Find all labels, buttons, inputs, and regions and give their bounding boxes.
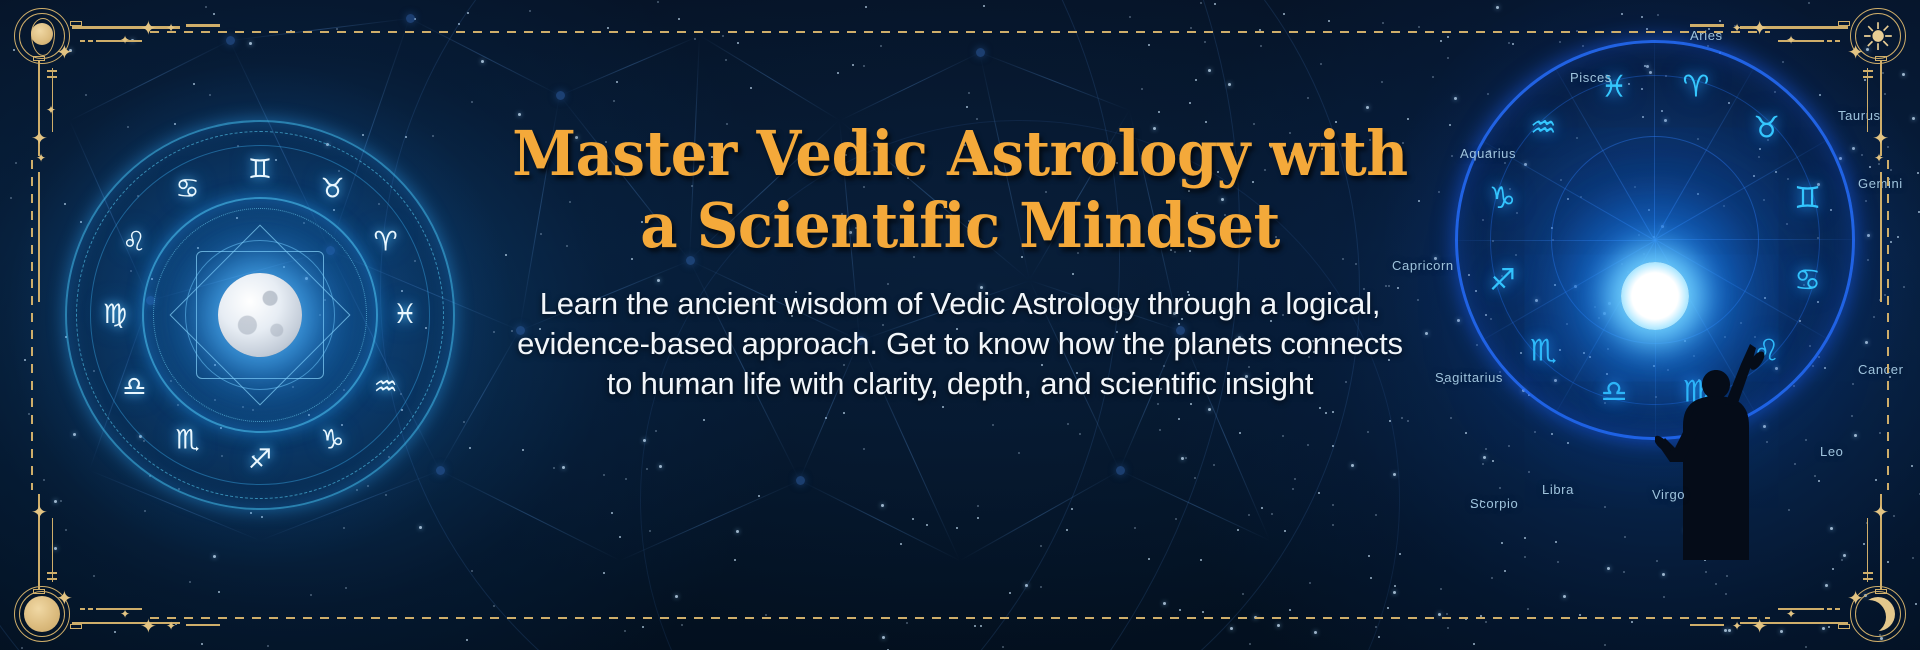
diamond-icon: ✦ — [1751, 616, 1768, 636]
frame-line — [1880, 494, 1882, 590]
frame-line — [1867, 518, 1868, 582]
constellation-label-scorpio: Scorpio — [1470, 496, 1518, 511]
constellation-label-aquarius: Aquarius — [1460, 146, 1516, 161]
frame-tick — [1863, 572, 1873, 574]
frame-line — [1740, 622, 1848, 625]
zodiac-symbol-aries: ♈ — [366, 223, 406, 263]
constellation-label-virgo: Virgo — [1652, 487, 1685, 502]
diamond-icon: ✦ — [1847, 588, 1864, 608]
sun-glyph: ☀ — [1859, 17, 1897, 55]
zodiac-symbol-sagittarius: ♐ — [240, 440, 280, 480]
zodiac-symbol-virgo: ♍ — [95, 295, 135, 335]
hero-banner: ♊♉♈♓♒♑♐♏♎♍♌♋ ♓♈♉♊♋♌♍♎♏♐♑♒ AriesPiscesTau… — [0, 0, 1920, 650]
zodiac-symbol-scorpio: ♏ — [168, 421, 208, 461]
constellation-label-cancer: Cancer — [1858, 362, 1904, 377]
zodiac-symbol-cancer: ♋ — [168, 169, 208, 209]
zodiac-symbol-aquarius: ♒ — [366, 368, 406, 408]
frame-cap — [1875, 589, 1887, 594]
zodiac-symbol-gemini: ♊ — [240, 150, 280, 190]
zodiac-symbol-sagittarius: ♐ — [1480, 259, 1524, 303]
constellation-label-libra: Libra — [1542, 482, 1574, 497]
zodiac-symbol-taurus: ♉ — [313, 169, 353, 209]
headline-line-2: a Scientific Mindset — [640, 189, 1280, 262]
constellation-label-gemini: Gemini — [1858, 176, 1903, 191]
frame-tick — [1835, 608, 1840, 610]
zodiac-wheel-moon: ♊♉♈♓♒♑♐♏♎♍♌♋ — [65, 120, 455, 510]
frame-line — [1690, 624, 1724, 627]
diamond-icon: ✦ — [1786, 608, 1796, 620]
zodiac-symbol-aquarius: ♒ — [1521, 106, 1565, 150]
zodiac-symbol-capricorn: ♑ — [1480, 177, 1524, 221]
hero-subtext: Learn the ancient wisdom of Vedic Astrol… — [470, 284, 1450, 405]
frame-cap — [1838, 624, 1850, 629]
diamond-icon: ✦ — [1732, 620, 1742, 632]
headline-line-1: Master Vedic Astrology with — [512, 117, 1407, 190]
zodiac-symbol-aries: ♈ — [1674, 65, 1718, 109]
hero-copy: Master Vedic Astrology with a Scientific… — [470, 118, 1450, 405]
zodiac-symbol-libra: ♎ — [1592, 371, 1636, 415]
zodiac-symbol-libra: ♎ — [114, 368, 154, 408]
constellation-label-pisces: Pisces — [1570, 70, 1612, 85]
frame-cap — [1875, 56, 1887, 61]
sun-icon — [1621, 262, 1689, 330]
zodiac-symbol-capricorn: ♑ — [313, 421, 353, 461]
zodiac-symbol-taurus: ♉ — [1745, 106, 1789, 150]
zodiac-symbol-cancer: ♋ — [1786, 259, 1830, 303]
zodiac-symbol-gemini: ♊ — [1786, 177, 1830, 221]
zodiac-symbol-leo: ♌ — [114, 223, 154, 263]
sun-medallion-icon: ☀ — [1850, 8, 1906, 64]
frame-line — [1778, 608, 1824, 610]
page-title: Master Vedic Astrology with a Scientific… — [504, 118, 1415, 262]
frame-tick — [1827, 608, 1832, 610]
crescent-moon-medallion-icon — [1850, 586, 1906, 642]
zodiac-symbol-scorpio: ♏ — [1521, 330, 1565, 374]
person-silhouette — [1655, 330, 1775, 560]
frame-tick — [1863, 578, 1873, 580]
constellation-label-leo: Leo — [1820, 444, 1844, 459]
diamond-icon: ✦ — [1872, 502, 1889, 522]
zodiac-symbol-pisces: ♓ — [385, 295, 425, 335]
constellation-label-taurus: Taurus — [1838, 108, 1881, 123]
moon-icon — [218, 273, 302, 357]
constellation-label-aries: Aries — [1690, 28, 1723, 43]
frame-cap — [1838, 21, 1850, 26]
